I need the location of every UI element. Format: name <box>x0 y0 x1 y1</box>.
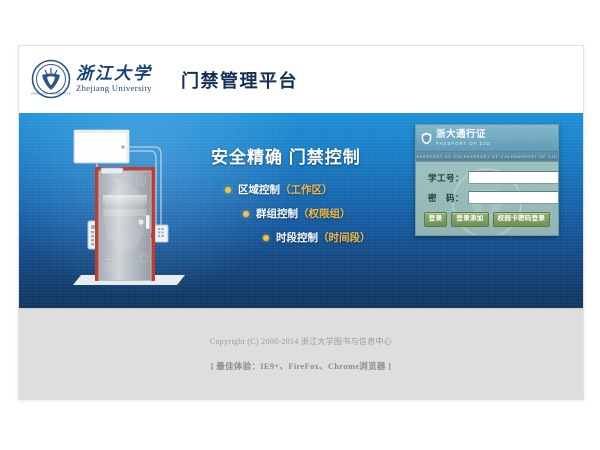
list-item: 区域控制 （工作区） <box>211 182 416 197</box>
banner-headline: 安全精确 门禁控制 <box>211 143 416 168</box>
list-item: 时段控制 （时间段） <box>211 230 416 245</box>
field-row-userid: 学工号： <box>424 171 550 184</box>
login-title-en: PASSPORT OF ZJU <box>436 142 491 146</box>
bullet-dot-icon <box>243 211 249 217</box>
browser-support-note: [ 最佳体验：IE9+、FireFox、Chrome浏览器 ] <box>211 360 392 372</box>
feature-accent: （时间段） <box>318 230 371 245</box>
userid-input[interactable] <box>468 171 559 184</box>
strip-text: PASSPORT OF ZJU <box>464 155 510 159</box>
userid-label: 学工号： <box>424 172 464 184</box>
zju-emblem-icon: ZHEJIANG UNIVERSITY <box>31 59 71 99</box>
feature-accent: （工作区） <box>280 182 333 197</box>
login-panel-header: 浙大通行证 PASSPORT OF ZJU <box>416 125 558 152</box>
brand-name-en: Zhejiang University <box>76 83 152 94</box>
login-add-button[interactable]: 登录添加 <box>451 212 488 227</box>
page-stage: ZHEJIANG UNIVERSITY 浙江大学 Zhejiang Univer… <box>0 0 600 450</box>
password-input[interactable] <box>468 191 559 204</box>
brand-name-cn: 浙江大学 <box>76 64 152 83</box>
feature-label: 区域控制 <box>238 182 280 197</box>
feature-label: 群组控制 <box>256 206 298 221</box>
site-footer: Copyright (C) 2008-2014 浙江大学图书与信息中心 [ 最佳… <box>19 308 583 399</box>
feature-list: 区域控制 （工作区） 群组控制 （权限组） 时段控制 （时间段） <box>211 182 416 245</box>
login-form: 学工号： 密 码： 登录 登录添加 校园卡密码登录 <box>416 162 558 235</box>
site-header: ZHEJIANG UNIVERSITY 浙江大学 Zhejiang Univer… <box>19 46 583 113</box>
login-title-cn: 浙大通行证 <box>436 130 491 140</box>
feature-label: 时段控制 <box>276 230 318 245</box>
page-title: 门禁管理平台 <box>181 67 298 93</box>
hero-banner: 安全精确 门禁控制 区域控制 （工作区） 群组控制 （权限组） 时段控制 <box>19 113 583 308</box>
login-title-group: 浙大通行证 PASSPORT OF ZJU <box>436 130 491 146</box>
strip-text: PASSPORT OF ZJU <box>511 155 557 159</box>
password-label: 密 码： <box>424 192 464 204</box>
brand-text: 浙江大学 Zhejiang University <box>76 64 152 94</box>
shield-icon <box>421 132 432 145</box>
banner-copy: 安全精确 门禁控制 区域控制 （工作区） 群组控制 （权限组） 时段控制 <box>211 143 416 261</box>
copyright-text: Copyright (C) 2008-2014 浙江大学图书与信息中心 <box>210 336 392 347</box>
login-panel: 浙大通行证 PASSPORT OF ZJU PASSPORT OF ZJU PA… <box>415 124 559 236</box>
access-control-door-illustration <box>55 125 200 300</box>
login-button[interactable]: 登录 <box>424 212 448 227</box>
bullet-dot-icon <box>263 235 269 241</box>
svg-text:ZHEJIANG UNIVERSITY: ZHEJIANG UNIVERSITY <box>31 92 71 96</box>
login-watermark-strip: PASSPORT OF ZJU PASSPORT OF ZJU PASSPORT… <box>416 152 558 162</box>
list-item: 群组控制 （权限组） <box>211 206 416 221</box>
field-row-password: 密 码： <box>424 191 550 204</box>
campus-card-login-button[interactable]: 校园卡密码登录 <box>493 212 551 227</box>
feature-accent: （权限组） <box>298 206 351 221</box>
bullet-dot-icon <box>225 187 231 193</box>
strip-text: PASSPORT OF ZJU <box>417 155 463 159</box>
login-button-row: 登录 登录添加 校园卡密码登录 <box>424 212 550 227</box>
page-card: ZHEJIANG UNIVERSITY 浙江大学 Zhejiang Univer… <box>18 45 584 400</box>
brand-logo[interactable]: ZHEJIANG UNIVERSITY 浙江大学 Zhejiang Univer… <box>31 59 152 99</box>
